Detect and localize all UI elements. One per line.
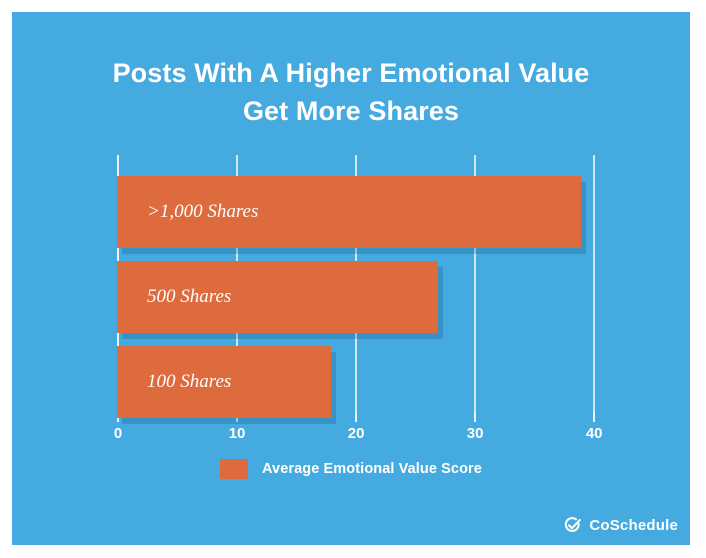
x-tick-20: [355, 412, 357, 422]
chart-legend: Average Emotional Value Score: [12, 459, 690, 479]
x-tick-40: [593, 412, 595, 422]
x-tick-label-40: 40: [574, 425, 614, 442]
title-line-1: Posts With A Higher Emotional Value: [12, 54, 690, 92]
bar-group[interactable]: 500 Shares: [117, 261, 438, 333]
bar[interactable]: >1,000 Shares: [117, 176, 581, 248]
gridline-40: [593, 155, 595, 412]
logo-text: CoSchedule: [589, 517, 678, 534]
title-line-2: Get More Shares: [12, 92, 690, 130]
x-tick-label-20: 20: [336, 425, 376, 442]
legend-label: Average Emotional Value Score: [262, 461, 482, 477]
coschedule-logo[interactable]: CoSchedule: [563, 516, 678, 535]
x-tick-30: [474, 412, 476, 422]
bar-label: >1,000 Shares: [147, 201, 258, 223]
bar-label: 500 Shares: [147, 286, 231, 308]
bar-group[interactable]: >1,000 Shares: [117, 176, 581, 248]
bar[interactable]: 100 Shares: [117, 346, 331, 418]
bar-label: 100 Shares: [147, 371, 231, 393]
x-tick-label-30: 30: [455, 425, 495, 442]
x-tick-label-10: 10: [217, 425, 257, 442]
bar[interactable]: 500 Shares: [117, 261, 438, 333]
x-tick-label-0: 0: [98, 425, 138, 442]
page-title: Posts With A Higher Emotional Value Get …: [12, 54, 690, 130]
bar-chart-plot-area: 010203040>1,000 Shares500 Shares100 Shar…: [117, 155, 617, 420]
legend-swatch: [220, 459, 248, 479]
infographic-card: Posts With A Higher Emotional Value Get …: [12, 12, 690, 545]
bar-group[interactable]: 100 Shares: [117, 346, 331, 418]
check-circle-icon: [563, 516, 582, 535]
